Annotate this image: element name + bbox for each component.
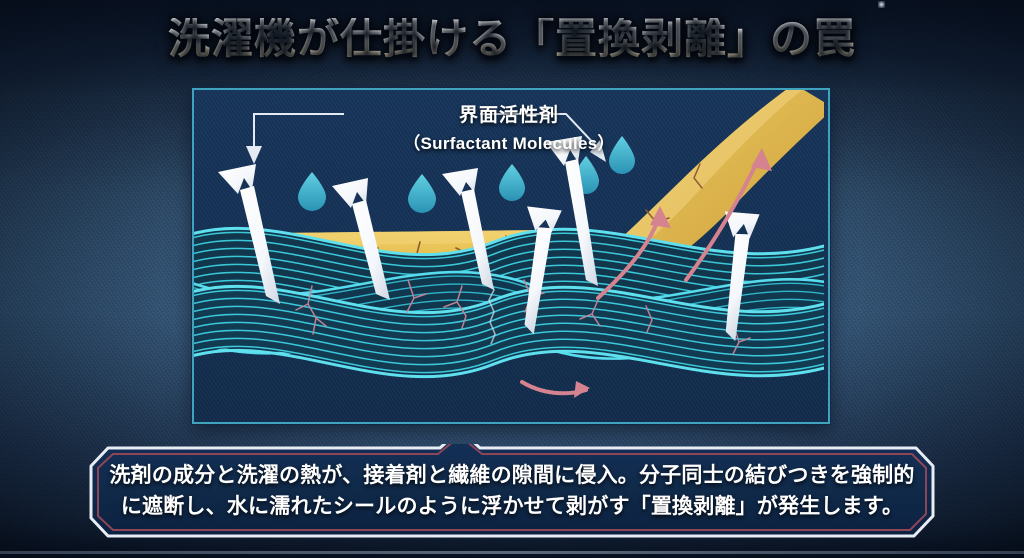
bottom-highlight-line [0,551,1024,554]
surfactant-label-leaders [254,114,598,148]
page-title: 洗濯機が仕掛ける「置換剥離」の罠 [0,18,1024,60]
droplet [499,164,525,201]
cursor-sparkle-artifact [878,1,885,8]
caption-line-1: 洗剤の成分と洗濯の熱が、接着剤と繊維の隙間に侵入。分子同士の結びつきを強制的 [109,464,914,489]
peel-diagram-svg [194,90,824,418]
droplet [408,174,436,213]
slide-stage: 洗濯機が仕掛ける「置換剥離」の罠 [0,0,1024,558]
illustration-panel: 界面活性剤 （Surfactant Molecules） [192,88,830,424]
caption-callout-box: 洗剤の成分と洗濯の熱が、接着剤と繊維の隙間に侵入。分子同士の結びつきを強制的 に… [88,444,936,540]
droplet [609,136,635,174]
caption-line-2: に遮断し、水に濡れたシールのように浮かせて剥がす「置換剥離」が発生します。 [121,495,903,520]
droplet [298,172,326,211]
